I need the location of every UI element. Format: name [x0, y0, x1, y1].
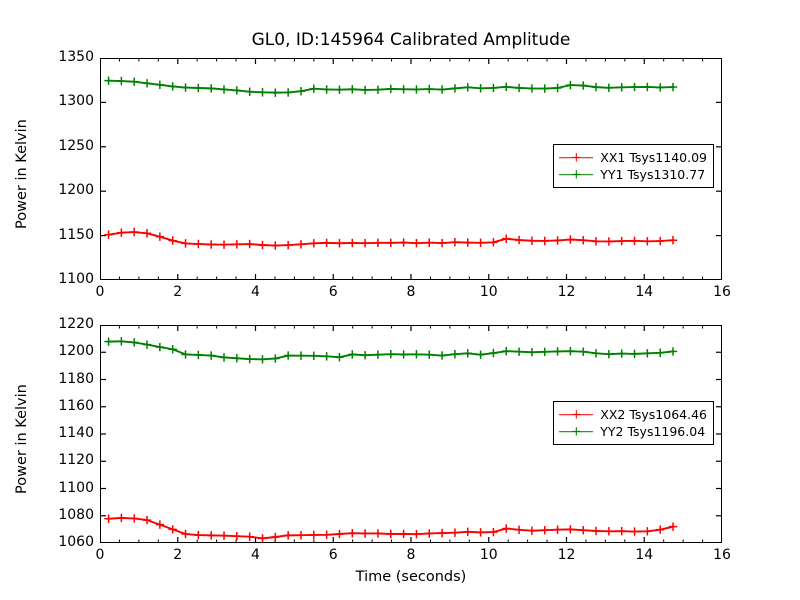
bottom-panel-x-tick-label: 8 [391, 547, 431, 563]
bottom-panel-series-0 [104, 514, 677, 543]
top-panel-x-tick-label: 4 [236, 284, 276, 300]
top-panel-legend-item-0: +XX1 Tsys1140.09 [559, 149, 707, 166]
top-panel-series-0 [104, 228, 677, 250]
legend-line-marker-icon: + [559, 169, 593, 181]
top-panel-x-tick-label: 6 [313, 284, 353, 300]
legend-label: XX1 Tsys1140.09 [600, 150, 707, 165]
bottom-panel-x-tick-label: 4 [236, 547, 276, 563]
bottom-panel-legend-item-1: +YY2 Tsys1196.04 [559, 423, 707, 440]
top-panel-x-tick-label: 0 [80, 284, 120, 300]
bottom-panel-x-tick-label: 10 [469, 547, 509, 563]
bottom-panel-series-1 [104, 337, 677, 363]
legend-line-marker-icon: + [559, 152, 593, 164]
bottom-panel-legend-item-0: +XX2 Tsys1064.46 [559, 406, 707, 423]
bottom-panel-legend: +XX2 Tsys1064.46+YY2 Tsys1196.04 [553, 401, 714, 445]
top-panel-y-tick-label: 1150 [36, 227, 94, 243]
bottom-panel-x-tick-label: 12 [547, 547, 587, 563]
legend-line-marker-icon: + [559, 426, 593, 438]
top-panel-legend: +XX1 Tsys1140.09+YY1 Tsys1310.77 [553, 144, 714, 188]
legend-line-marker-icon: + [559, 409, 593, 421]
bottom-panel-x-tick-label: 14 [624, 547, 664, 563]
top-panel-x-tick-label: 10 [469, 284, 509, 300]
bottom-panel-y-tick-label: 1160 [36, 398, 94, 414]
bottom-panel-y-tick-label: 1100 [36, 480, 94, 496]
top-panel-x-tick-label: 8 [391, 284, 431, 300]
top-panel-y-tick-label: 1250 [36, 138, 94, 154]
bottom-panel-x-tick-label: 0 [80, 547, 120, 563]
bottom-panel: 1060108011001120114011601180120012200246… [100, 325, 722, 543]
chart-title: GL0, ID:145964 Calibrated Amplitude [100, 30, 722, 50]
legend-label: XX2 Tsys1064.46 [600, 407, 707, 422]
top-panel-x-tick-label: 14 [624, 284, 664, 300]
bottom-panel-y-tick-label: 1120 [36, 452, 94, 468]
top-panel-y-tick-label: 1200 [36, 182, 94, 198]
bottom-panel-y-axis-label: Power in Kelvin [14, 384, 30, 494]
x-axis-label: Time (seconds) [100, 569, 722, 585]
chart-figure: GL0, ID:145964 Calibrated Amplitude 1100… [0, 0, 800, 600]
legend-label: YY2 Tsys1196.04 [600, 424, 705, 439]
bottom-panel-y-tick-label: 1220 [36, 316, 94, 332]
top-panel-y-tick-label: 1300 [36, 93, 94, 109]
top-panel-series-1 [104, 76, 677, 96]
top-panel-y-axis-label: Power in Kelvin [14, 119, 30, 229]
top-panel-x-tick-label: 12 [547, 284, 587, 300]
bottom-panel-x-tick-label: 2 [158, 547, 198, 563]
top-panel-x-tick-label: 2 [158, 284, 198, 300]
top-panel: 1100115012001250130013500246810121416Pow… [100, 58, 722, 280]
bottom-panel-y-tick-label: 1080 [36, 507, 94, 523]
legend-label: YY1 Tsys1310.77 [600, 167, 705, 182]
bottom-panel-y-tick-label: 1200 [36, 343, 94, 359]
top-panel-y-tick-label: 1350 [36, 49, 94, 65]
bottom-panel-x-tick-label: 6 [313, 547, 353, 563]
top-panel-legend-item-1: +YY1 Tsys1310.77 [559, 166, 707, 183]
bottom-panel-y-tick-label: 1140 [36, 425, 94, 441]
top-panel-x-tick-label: 16 [702, 284, 742, 300]
bottom-panel-x-tick-label: 16 [702, 547, 742, 563]
bottom-panel-y-tick-label: 1180 [36, 371, 94, 387]
